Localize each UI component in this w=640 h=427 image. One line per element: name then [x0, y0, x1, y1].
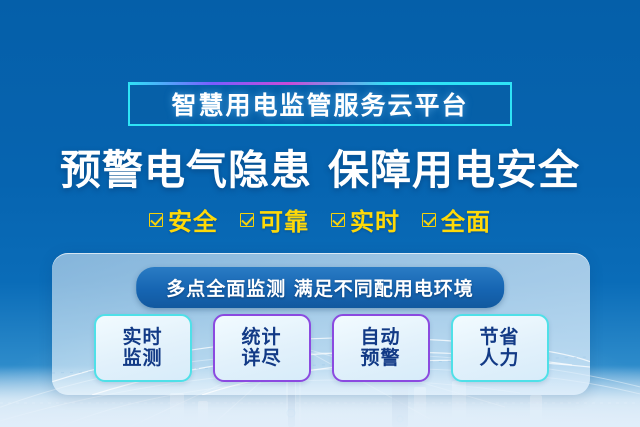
- headline-part1: 预警电气隐患: [60, 146, 312, 194]
- platform-title-text: 智慧用电监管服务云平台: [171, 86, 468, 122]
- feature-card-list: 实时 监测 统计 详尽 自动 预警 节省 人力: [52, 313, 590, 383]
- headline-part2: 保障用电安全: [328, 146, 580, 194]
- checkbox-checked-icon: [240, 213, 254, 227]
- checklist-item-realtime: 实时: [331, 202, 400, 237]
- feature-card-detailed-statistics[interactable]: 统计 详尽: [213, 314, 311, 382]
- checklist-label: 可靠: [259, 202, 309, 237]
- feature-card-realtime-monitoring[interactable]: 实时 监测: [94, 314, 192, 382]
- checkbox-checked-icon: [149, 213, 163, 227]
- checklist-item-comprehensive: 全面: [422, 202, 491, 237]
- card-line-1: 实时: [122, 327, 162, 348]
- card-line-1: 统计: [241, 327, 281, 348]
- feature-checklist: 安全 可靠 实时 全面: [0, 202, 640, 237]
- card-line-2: 监测: [122, 348, 162, 369]
- checklist-label: 全面: [441, 202, 491, 237]
- checklist-label: 安全: [168, 202, 218, 237]
- feature-card-auto-alert[interactable]: 自动 预警: [332, 314, 430, 382]
- checklist-label: 实时: [350, 202, 400, 237]
- card-line-2: 详尽: [241, 348, 281, 369]
- checklist-item-reliable: 可靠: [240, 202, 309, 237]
- card-line-2: 预警: [360, 348, 400, 369]
- feature-card-save-manpower[interactable]: 节省 人力: [451, 314, 549, 382]
- checkbox-checked-icon: [422, 213, 436, 227]
- card-line-2: 人力: [479, 348, 519, 369]
- subtitle-banner: 多点全面监测 满足不同配用电环境: [136, 267, 504, 308]
- platform-title-box: 智慧用电监管服务云平台: [128, 82, 512, 126]
- poster-root: 智慧用电监管服务云平台 预警电气隐患保障用电安全 安全 可靠 实时 全面: [0, 0, 640, 427]
- checkbox-checked-icon: [331, 213, 345, 227]
- checklist-item-safety: 安全: [149, 202, 218, 237]
- headline: 预警电气隐患保障用电安全: [0, 136, 640, 196]
- card-line-1: 节省: [479, 327, 519, 348]
- card-line-1: 自动: [360, 327, 400, 348]
